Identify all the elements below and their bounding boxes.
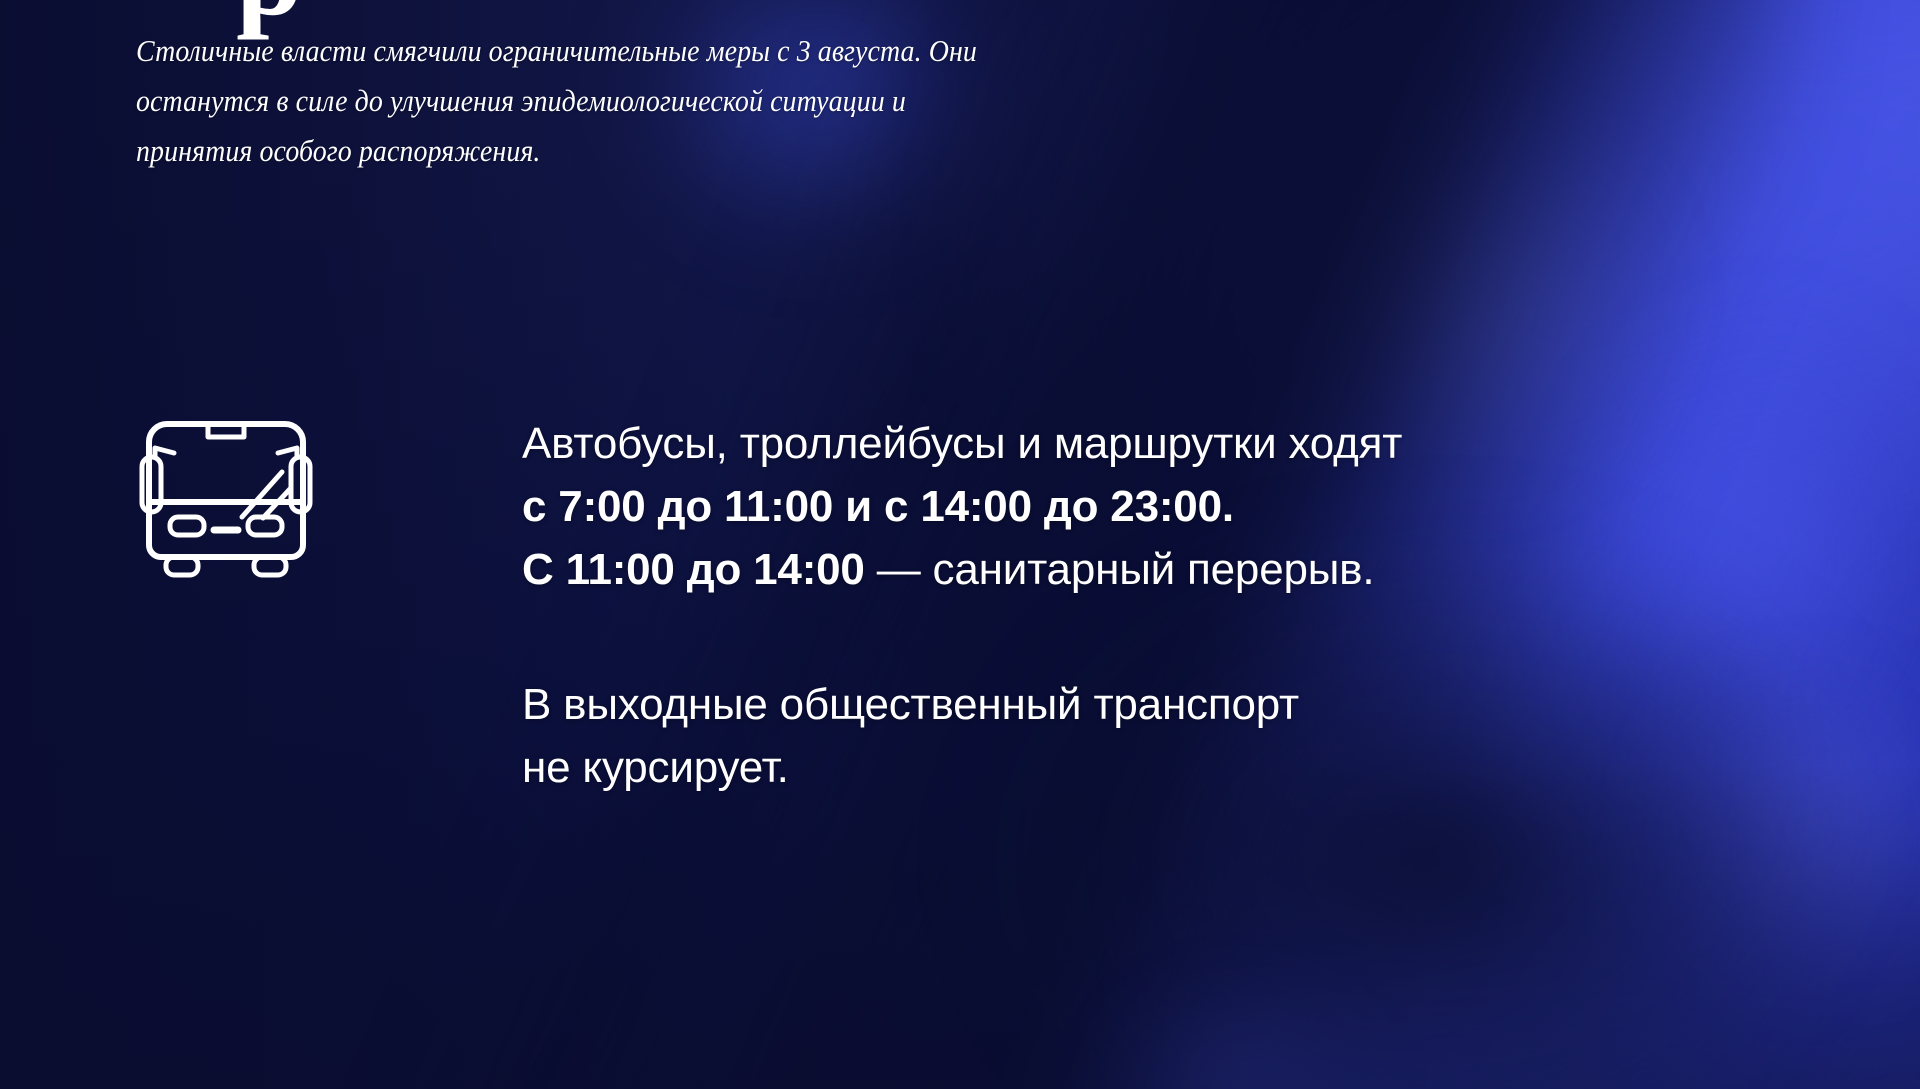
schedule-line-break: С 11:00 до 14:00 — санитарный перерыв. <box>522 538 1822 601</box>
paragraph-transport-schedule: Автобусы, троллейбусы и маршрутки ходят … <box>522 412 1822 601</box>
schedule-line-intro: Автобусы, троллейбусы и маршрутки ходят <box>522 412 1822 475</box>
weekend-line-2: не курсирует. <box>522 736 1822 799</box>
subtitle-line-1: Столичные власти смягчили ограничительны… <box>136 26 1261 76</box>
paragraph-weekend-notice: В выходные общественный транспорт не кур… <box>522 673 1822 799</box>
subtitle-block: Столичные власти смягчили ограничительны… <box>136 26 1261 176</box>
subtitle-line-2: останутся в силе до улучшения эпидемиоло… <box>136 76 1261 126</box>
sanitary-break-label: — санитарный перерыв. <box>865 545 1375 594</box>
weekend-line-1: В выходные общественный транспорт <box>522 673 1822 736</box>
bus-front-icon <box>122 404 330 589</box>
main-text-block: Автобусы, троллейбусы и маршрутки ходят … <box>522 412 1822 799</box>
sanitary-break-time: С 11:00 до 14:00 <box>522 545 865 594</box>
subtitle-line-3: принятия особого распоряжения. <box>136 126 1261 176</box>
schedule-line-hours: с 7:00 до 11:00 и с 14:00 до 23:00. <box>522 475 1822 538</box>
